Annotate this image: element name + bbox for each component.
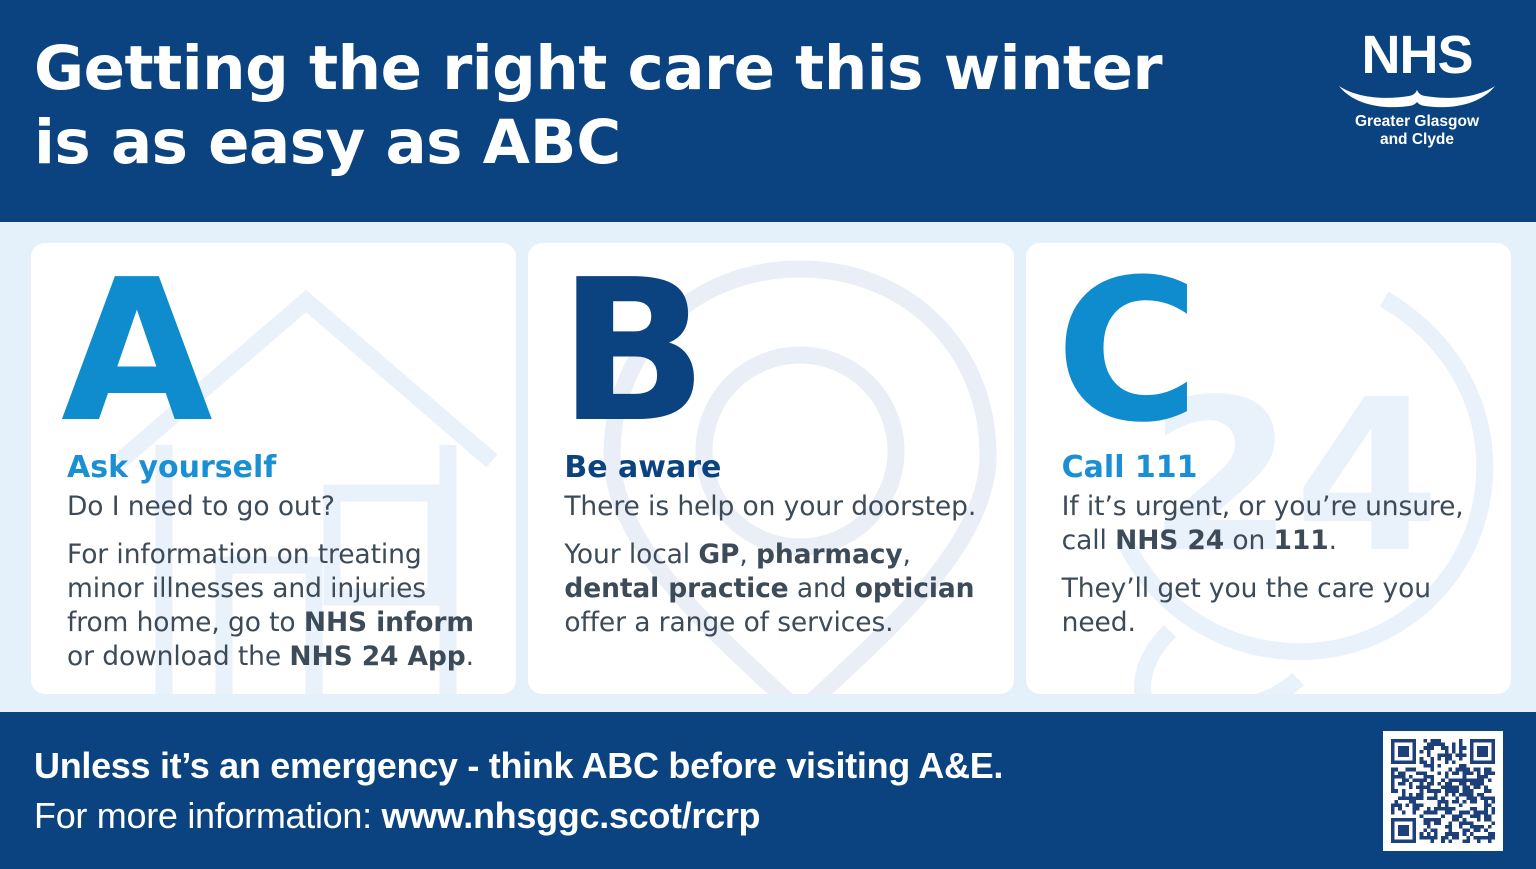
qr-code-icon[interactable] — [1383, 731, 1503, 851]
card-b-heading: Be aware — [564, 451, 989, 485]
card-c-content: C Call 111 If it’s urgent, or you’re uns… — [1026, 243, 1511, 694]
page-title-line1: Getting the right care this winter — [34, 33, 1162, 104]
card-a-paragraph-2: For information on treating minor illnes… — [67, 538, 492, 674]
footer-banner: Unless it’s an emergency - think ABC bef… — [0, 712, 1536, 869]
card-a-paragraph-1: Do I need to go out? — [67, 490, 492, 524]
nhs-logo: NHS Greater Glasgowand Clyde — [1332, 28, 1502, 149]
card-a-letter: A — [61, 259, 492, 445]
qr-code-matrix — [1391, 739, 1495, 843]
card-c-heading: Call 111 — [1062, 451, 1487, 485]
footer-line-2: For more information: www.nhsggc.scot/rc… — [34, 791, 1003, 841]
nhs-logo-sub-line2: and Clyde — [1380, 131, 1454, 148]
card-b: B Be aware There is help on your doorste… — [528, 243, 1013, 694]
card-b-letter: B — [558, 259, 989, 445]
card-a-content: A Ask yourself Do I need to go out? For … — [31, 243, 516, 694]
card-b-paragraph-1: There is help on your doorstep. — [564, 490, 989, 524]
footer-line-1: Unless it’s an emergency - think ABC bef… — [34, 741, 1003, 791]
poster-root: Getting the right care this winteris as … — [0, 0, 1536, 869]
card-a: A Ask yourself Do I need to go out? For … — [31, 243, 516, 694]
page-title-line2-prefix: is as easy as — [34, 107, 483, 178]
footer-url[interactable]: www.nhsggc.scot/rcrp — [382, 795, 761, 836]
page-title: Getting the right care this winteris as … — [34, 32, 1162, 180]
nhs-wordmark: NHS — [1332, 28, 1502, 82]
nhs-logo-subtitle: Greater Glasgowand Clyde — [1332, 113, 1502, 149]
footer-text: Unless it’s an emergency - think ABC bef… — [34, 741, 1003, 841]
cards-row: A Ask yourself Do I need to go out? For … — [0, 222, 1536, 712]
page-title-abc: ABC — [483, 107, 621, 178]
header-banner: Getting the right care this winteris as … — [0, 0, 1536, 222]
nhs-logo-sub-line1: Greater Glasgow — [1355, 113, 1479, 130]
card-a-heading: Ask yourself — [67, 451, 492, 485]
card-c: 24 C Call 111 If it’s urgent, or you’re … — [1026, 243, 1511, 694]
card-b-paragraph-2: Your local GP, pharmacy, dental practice… — [564, 538, 989, 640]
nhs-swoosh-icon — [1337, 84, 1497, 110]
card-b-content: B Be aware There is help on your doorste… — [528, 243, 1013, 694]
card-c-letter: C — [1056, 259, 1487, 445]
card-c-paragraph-2: They’ll get you the care you need. — [1062, 572, 1487, 640]
footer-line-2-prefix: For more information: — [34, 795, 382, 836]
card-c-paragraph-1: If it’s urgent, or you’re unsure, call N… — [1062, 490, 1487, 558]
